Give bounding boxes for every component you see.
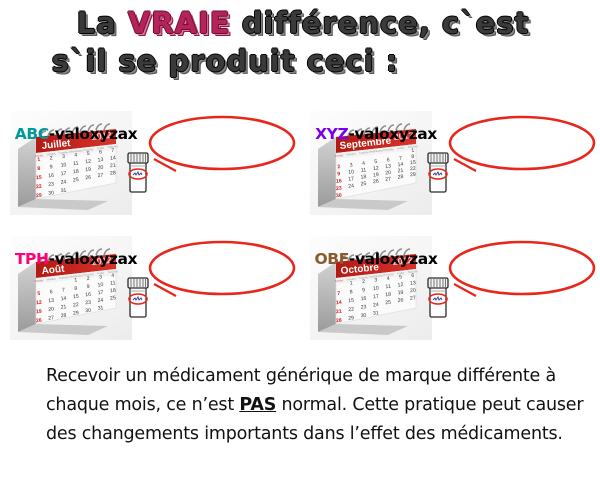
calendar-date: 16 [360, 296, 366, 303]
calendar-cell: Septembre 2012 1234567891011121314151617… [300, 103, 600, 228]
calendar-cell: Août 2012 123456789101112131415161718192… [0, 228, 300, 353]
brand-name: ABC [15, 125, 49, 143]
calendar-date: 15 [73, 294, 79, 301]
calendar-date: 19 [85, 167, 91, 174]
generic-name: -valoxyzax [49, 125, 138, 143]
calendar-date: 17 [60, 171, 66, 178]
calendar-grid: Juillet 2012 123456789101112131415161718… [0, 103, 600, 353]
calendar-date: 26 [373, 179, 379, 186]
callout-label: ABC-valoxyzax [0, 103, 152, 165]
callout-bubble [146, 238, 298, 300]
callout-ellipse [450, 242, 594, 294]
title-line2-text: s`il se produit ceci : [52, 44, 399, 78]
callout-ellipse [450, 117, 594, 169]
calendar-date: 29 [348, 315, 354, 322]
calendar-date: 20 [48, 307, 54, 314]
title-line1-rest: différence, c`est [231, 6, 530, 40]
calendar-date: 16 [336, 178, 342, 185]
paragraph-line2-a: chaque mois, ce n’est [46, 395, 239, 415]
callout-bubble [446, 238, 598, 300]
calendar-date: 27 [410, 295, 416, 302]
callout-ellipse [150, 242, 294, 294]
calendar-date: 12 [373, 165, 379, 172]
callout-bubble [446, 113, 598, 175]
calendar-date: 16 [85, 292, 91, 299]
title-word-vraie: VRAIE [128, 6, 231, 40]
calendar-date: 19 [397, 290, 403, 297]
calendar-date: 31 [60, 188, 66, 195]
page-title: La VRAIE différence, c`est s`il se produ… [0, 4, 600, 80]
calendar-date: 20 [97, 165, 103, 172]
calendar-date: 22 [348, 307, 354, 314]
calendar-date: 23 [336, 186, 342, 193]
calendar-date: 22 [36, 184, 42, 191]
body-paragraph: Recevoir un médicament générique de marq… [46, 362, 566, 449]
generic-name: -valoxyzax [348, 125, 437, 143]
calendar-date: 15 [36, 175, 42, 182]
calendar-date: 28 [60, 313, 66, 320]
calendar-date: 26 [397, 298, 403, 305]
calendar-date: 24 [60, 179, 66, 186]
calendar-date: 29 [36, 193, 42, 200]
callout-label: OBF-valoxyzax [300, 228, 452, 290]
calendar-date: 19 [36, 309, 42, 316]
calendar-date: 19 [373, 172, 379, 179]
calendar-date: 17 [373, 294, 379, 301]
callout-label: XYZ-valoxyzax [300, 103, 452, 165]
calendar-date: 17 [97, 290, 103, 297]
paragraph-line-2: chaque mois, ce n’est PAS normal. Cette … [46, 391, 566, 420]
calendar-date: 27 [385, 176, 391, 183]
paragraph-line-3: des changements importants dans l’effet … [46, 420, 566, 449]
calendar-date: 18 [73, 169, 79, 176]
callout-bubble [146, 113, 298, 175]
callout-ellipse [150, 117, 294, 169]
calendar-date: 30 [360, 313, 366, 320]
calendar-date: 29 [410, 172, 416, 179]
calendar-date: 28 [336, 318, 342, 325]
calendar-date: 25 [360, 181, 366, 188]
calendar-date: 24 [97, 298, 103, 305]
calendar-date: 30 [48, 190, 54, 197]
title-line-2: s`il se produit ceci : [0, 42, 600, 80]
calendar-date: 26 [85, 175, 91, 182]
calendar-date: 21 [336, 309, 342, 316]
title-line-1: La VRAIE différence, c`est [0, 4, 600, 42]
calendar-date: 14 [336, 300, 342, 307]
calendar-date: 29 [73, 310, 79, 317]
calendar-date: 15 [348, 298, 354, 305]
brand-name: XYZ [315, 125, 348, 143]
calendar-date: 27 [97, 173, 103, 180]
calendar-date: 18 [385, 292, 391, 299]
calendar-date: 25 [110, 295, 116, 302]
calendar-date: 18 [360, 174, 366, 181]
calendar-cell: Juillet 2012 123456789101112131415161718… [0, 103, 300, 228]
calendar-date: 30 [85, 308, 91, 315]
brand-name: OBF [315, 250, 349, 268]
calendar-date: 10 [348, 169, 354, 176]
calendar-date: 13 [48, 298, 54, 305]
brand-name: TPH [15, 250, 49, 268]
callout-label: TPH-valoxyzax [0, 228, 152, 290]
calendar-date: 11 [361, 167, 367, 174]
calendar-date: 16 [48, 173, 54, 180]
calendar-date: 25 [73, 177, 79, 184]
calendar-date: 22 [73, 302, 79, 309]
calendar-date: 23 [48, 182, 54, 189]
calendar-date: 25 [385, 300, 391, 307]
calendar-date: 31 [97, 305, 103, 312]
calendar-cell: Octobre 2012 123456789101112131415161718… [300, 228, 600, 353]
calendar-date: 27 [48, 315, 54, 322]
calendar-date: 21 [60, 304, 66, 311]
paragraph-line2-b: normal. Cette pratique peut causer [276, 395, 583, 415]
calendar-date: 24 [373, 302, 379, 309]
calendar-date: 23 [85, 300, 91, 307]
calendar-date: 28 [110, 170, 116, 177]
paragraph-emphasis-pas: PAS [239, 395, 276, 415]
calendar-date: 28 [397, 174, 403, 181]
calendar-date: 30 [336, 193, 342, 200]
calendar-date: 23 [360, 304, 366, 311]
calendar-date: 14 [60, 296, 66, 303]
paragraph-line-1: Recevoir un médicament générique de marq… [46, 362, 566, 391]
generic-name: -valoxyzax [349, 250, 438, 268]
calendar-date: 12 [36, 300, 42, 307]
calendar-date: 24 [348, 183, 354, 190]
title-word-la: La [77, 6, 128, 40]
calendar-date: 31 [373, 310, 379, 317]
generic-name: -valoxyzax [49, 250, 138, 268]
calendar-date: 17 [348, 176, 354, 183]
calendar-date: 26 [36, 318, 42, 325]
